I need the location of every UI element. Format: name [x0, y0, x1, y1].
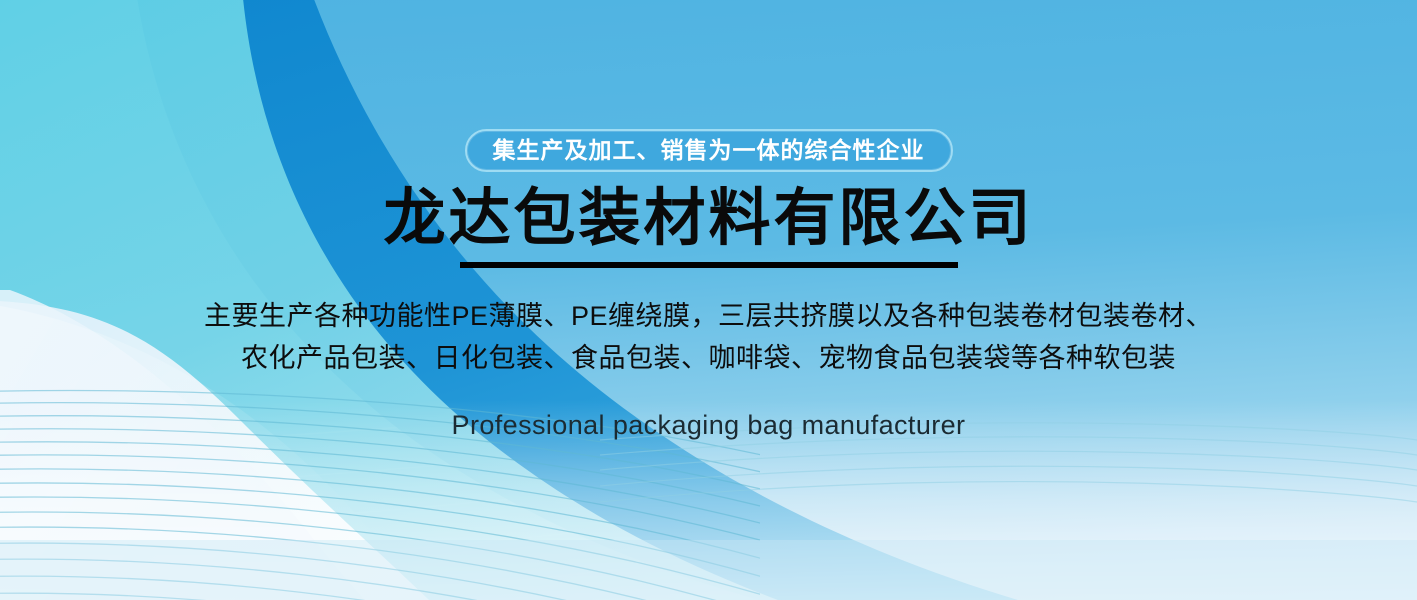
banner-content: 集生产及加工、销售为一体的综合性企业 龙达包装材料有限公司 主要生产各种功能性P… — [0, 0, 1417, 600]
description-line-2: 农化产品包装、日化包装、食品包装、咖啡袋、宠物食品包装袋等各种软包装 — [241, 338, 1176, 380]
description-line-1: 主要生产各种功能性PE薄膜、PE缠绕膜，三层共挤膜以及各种包装卷材包装卷材、 — [204, 296, 1213, 338]
tagline-pill-text: 集生产及加工、销售为一体的综合性企业 — [493, 139, 925, 162]
tagline-pill: 集生产及加工、销售为一体的综合性企业 — [465, 129, 953, 172]
company-title: 龙达包装材料有限公司 — [383, 186, 1033, 253]
company-hero-banner: 集生产及加工、销售为一体的综合性企业 龙达包装材料有限公司 主要生产各种功能性P… — [0, 0, 1417, 600]
title-underline-rule — [460, 262, 958, 268]
english-tagline: Professional packaging bag manufacturer — [452, 410, 966, 441]
description-block: 主要生产各种功能性PE薄膜、PE缠绕膜，三层共挤膜以及各种包装卷材包装卷材、 农… — [204, 296, 1213, 380]
